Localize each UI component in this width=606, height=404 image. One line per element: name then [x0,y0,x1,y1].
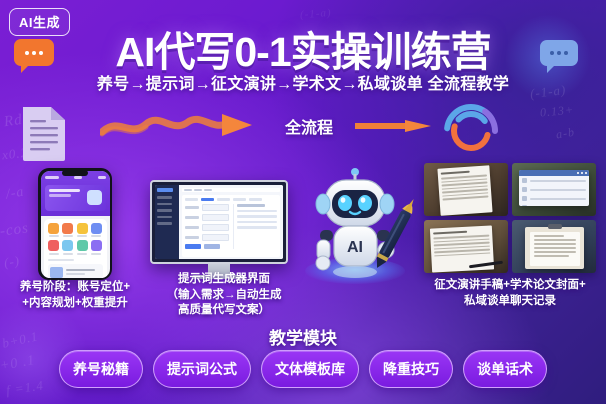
bg-formula: /-a [5,185,26,204]
sidebar-item[interactable] [157,209,172,212]
bg-formula: -cos [0,220,30,240]
app-header [41,171,110,216]
panel-tabs[interactable] [185,198,277,201]
bg-formula: a-b [555,125,576,143]
document-icon [20,104,68,162]
photo-handwritten-manuscript [424,163,508,216]
caption-monitor: 提示词生成器界面 （输入需求→自动生成 高质量代写文案） [148,272,300,319]
phone-screen [41,171,110,278]
robot-chest-label: AI [347,239,363,256]
monitor-mockup [150,180,288,279]
result-panel [233,204,277,249]
photo-clipboard-on-laptop [512,220,596,273]
form-row[interactable] [185,224,229,231]
chat-row [519,203,590,206]
chat-row [519,176,590,185]
section-heading [48,259,74,262]
form-row[interactable] [185,204,229,211]
banner-avatar [87,190,102,205]
module-pill-2[interactable]: 文体模板库 [261,350,359,388]
swoosh-arrow-icon [100,108,260,142]
form-actions[interactable] [185,244,229,249]
module-pill-list: 养号秘籍 提示词公式 文体模板库 降重技巧 谈单话术 [0,350,606,388]
phone-notch [62,170,88,176]
flow-label: 全流程 [285,114,333,138]
input-form [185,204,229,249]
dashboard-topbar [182,188,280,192]
page-title: AI代写0-1实操训练营 [0,18,606,78]
form-row[interactable] [185,214,229,221]
caption-phone: 养号阶段：账号定位+ +内容规划+权重提升 [2,280,148,311]
app-grid-item[interactable] [62,240,74,255]
module-pill-1[interactable]: 提示词公式 [153,350,251,388]
document-photo-grid [424,163,596,273]
caption-documents: 征文演讲手稿+学术论文封面+ 私域谈单聊天记录 [420,278,600,309]
app-grid-item[interactable] [48,240,60,255]
modules-title: 教学模块 [0,324,606,349]
progress-ring-icon [440,100,502,162]
form-panel [182,195,280,257]
photo-chat-window [512,163,596,216]
module-pill-0[interactable]: 养号秘籍 [59,350,143,388]
chat-row [519,185,590,194]
dashboard-logo [157,188,173,192]
phone-mockup [38,168,112,280]
module-pill-3[interactable]: 降重技巧 [369,350,453,388]
sidebar-item[interactable] [157,216,172,219]
monitor-screen [150,180,288,264]
poster-root: Rd-2 x0.2 /-a -cos (-) b+0.1 +0 .1 f =1.… [0,0,606,404]
module-pill-4[interactable]: 谈单话术 [463,350,547,388]
dashboard-sidebar [155,185,179,259]
app-grid-item[interactable] [90,223,102,238]
app-grid-item[interactable] [48,223,60,238]
sidebar-item[interactable] [157,203,172,206]
bg-formula: 0.13+ [539,103,574,121]
app-grid-item[interactable] [90,240,102,255]
form-row[interactable] [185,234,229,241]
app-icon-grid [48,223,103,255]
bg-formula: (-) [3,253,21,271]
chat-row [519,194,590,203]
photo-clipboard-with-pen [424,220,508,273]
sidebar-item[interactable] [157,196,172,199]
right-arrow-icon [355,120,431,132]
app-grid-item[interactable] [76,240,88,255]
dashboard-main [179,185,283,259]
app-content [44,219,107,278]
sidebar-item[interactable] [157,222,172,225]
chat-window [519,170,590,206]
app-banner [45,185,106,211]
app-grid-item[interactable] [76,223,88,238]
app-grid-item[interactable] [62,223,74,238]
list-item[interactable] [48,264,103,278]
robot-mascot-icon: AI [296,160,414,285]
page-subtitle: 养号→提示词→征文演讲→学术文→私域谈单 全流程教学 [0,70,606,94]
